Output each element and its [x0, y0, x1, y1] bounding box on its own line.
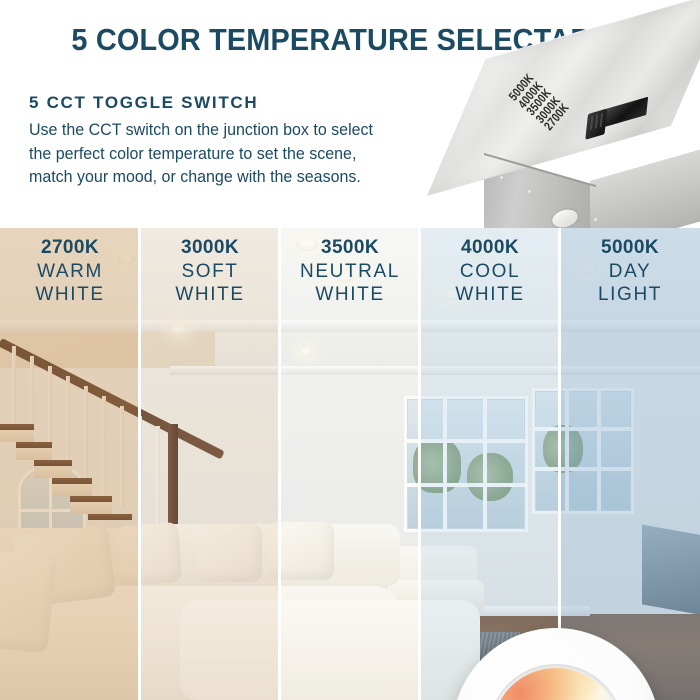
kelvin-value: 5000K	[560, 238, 700, 257]
color-temperature-comparison-strip: 2700K WARM WHITE 3000K SOFT WHITE 3500K …	[0, 228, 700, 700]
cct-name-line-one: NEUTRAL	[280, 262, 420, 281]
screw-icon	[500, 176, 504, 180]
cct-label-5000k: 5000K DAY LIGHT	[560, 238, 700, 304]
body-copy: Use the CCT switch on the junction box t…	[29, 119, 459, 190]
kelvin-value: 2700K	[0, 238, 140, 257]
kelvin-value: 3500K	[280, 238, 420, 257]
body-line-3: match your mood, or change with the seas…	[29, 166, 446, 190]
cct-name-line-one: COOL	[420, 262, 560, 281]
junction-box-switch-illustration: 5000K 4000K 3500K 3000K 2700K	[486, 58, 700, 228]
cct-name-line-one: SOFT	[140, 262, 280, 281]
screw-icon	[528, 190, 532, 194]
downlight-product-image	[418, 616, 700, 700]
body-line-2: the perfect color temperature to set the…	[29, 143, 446, 167]
cct-name-line-two: WHITE	[280, 285, 420, 304]
kelvin-value: 4000K	[420, 238, 560, 257]
cct-label-4000k: 4000K COOL WHITE	[420, 238, 560, 304]
section-subheading: 5 CCT TOGGLE SWITCH	[29, 93, 258, 113]
kelvin-value: 3000K	[140, 238, 280, 257]
screw-icon	[594, 218, 598, 222]
cct-name-line-two: LIGHT	[560, 285, 700, 304]
body-line-1: Use the CCT switch on the junction box t…	[29, 119, 446, 143]
junction-box-side-face	[590, 138, 700, 228]
cct-name-line-one: DAY	[560, 262, 700, 281]
cct-name-line-one: WARM	[0, 262, 140, 281]
cct-name-line-two: WHITE	[0, 285, 140, 304]
cct-label-2700k: 2700K WARM WHITE	[0, 238, 140, 304]
cct-name-line-two: WHITE	[140, 285, 280, 304]
cct-name-line-two: WHITE	[420, 285, 560, 304]
cct-label-3000k: 3000K SOFT WHITE	[140, 238, 280, 304]
cct-label-3500k: 3500K NEUTRAL WHITE	[280, 238, 420, 304]
marketing-infographic: 5 COLOR TEMPERATURE SELECTABLE 5 CCT TOG…	[0, 0, 700, 700]
header-section: 5 COLOR TEMPERATURE SELECTABLE 5 CCT TOG…	[0, 0, 700, 228]
